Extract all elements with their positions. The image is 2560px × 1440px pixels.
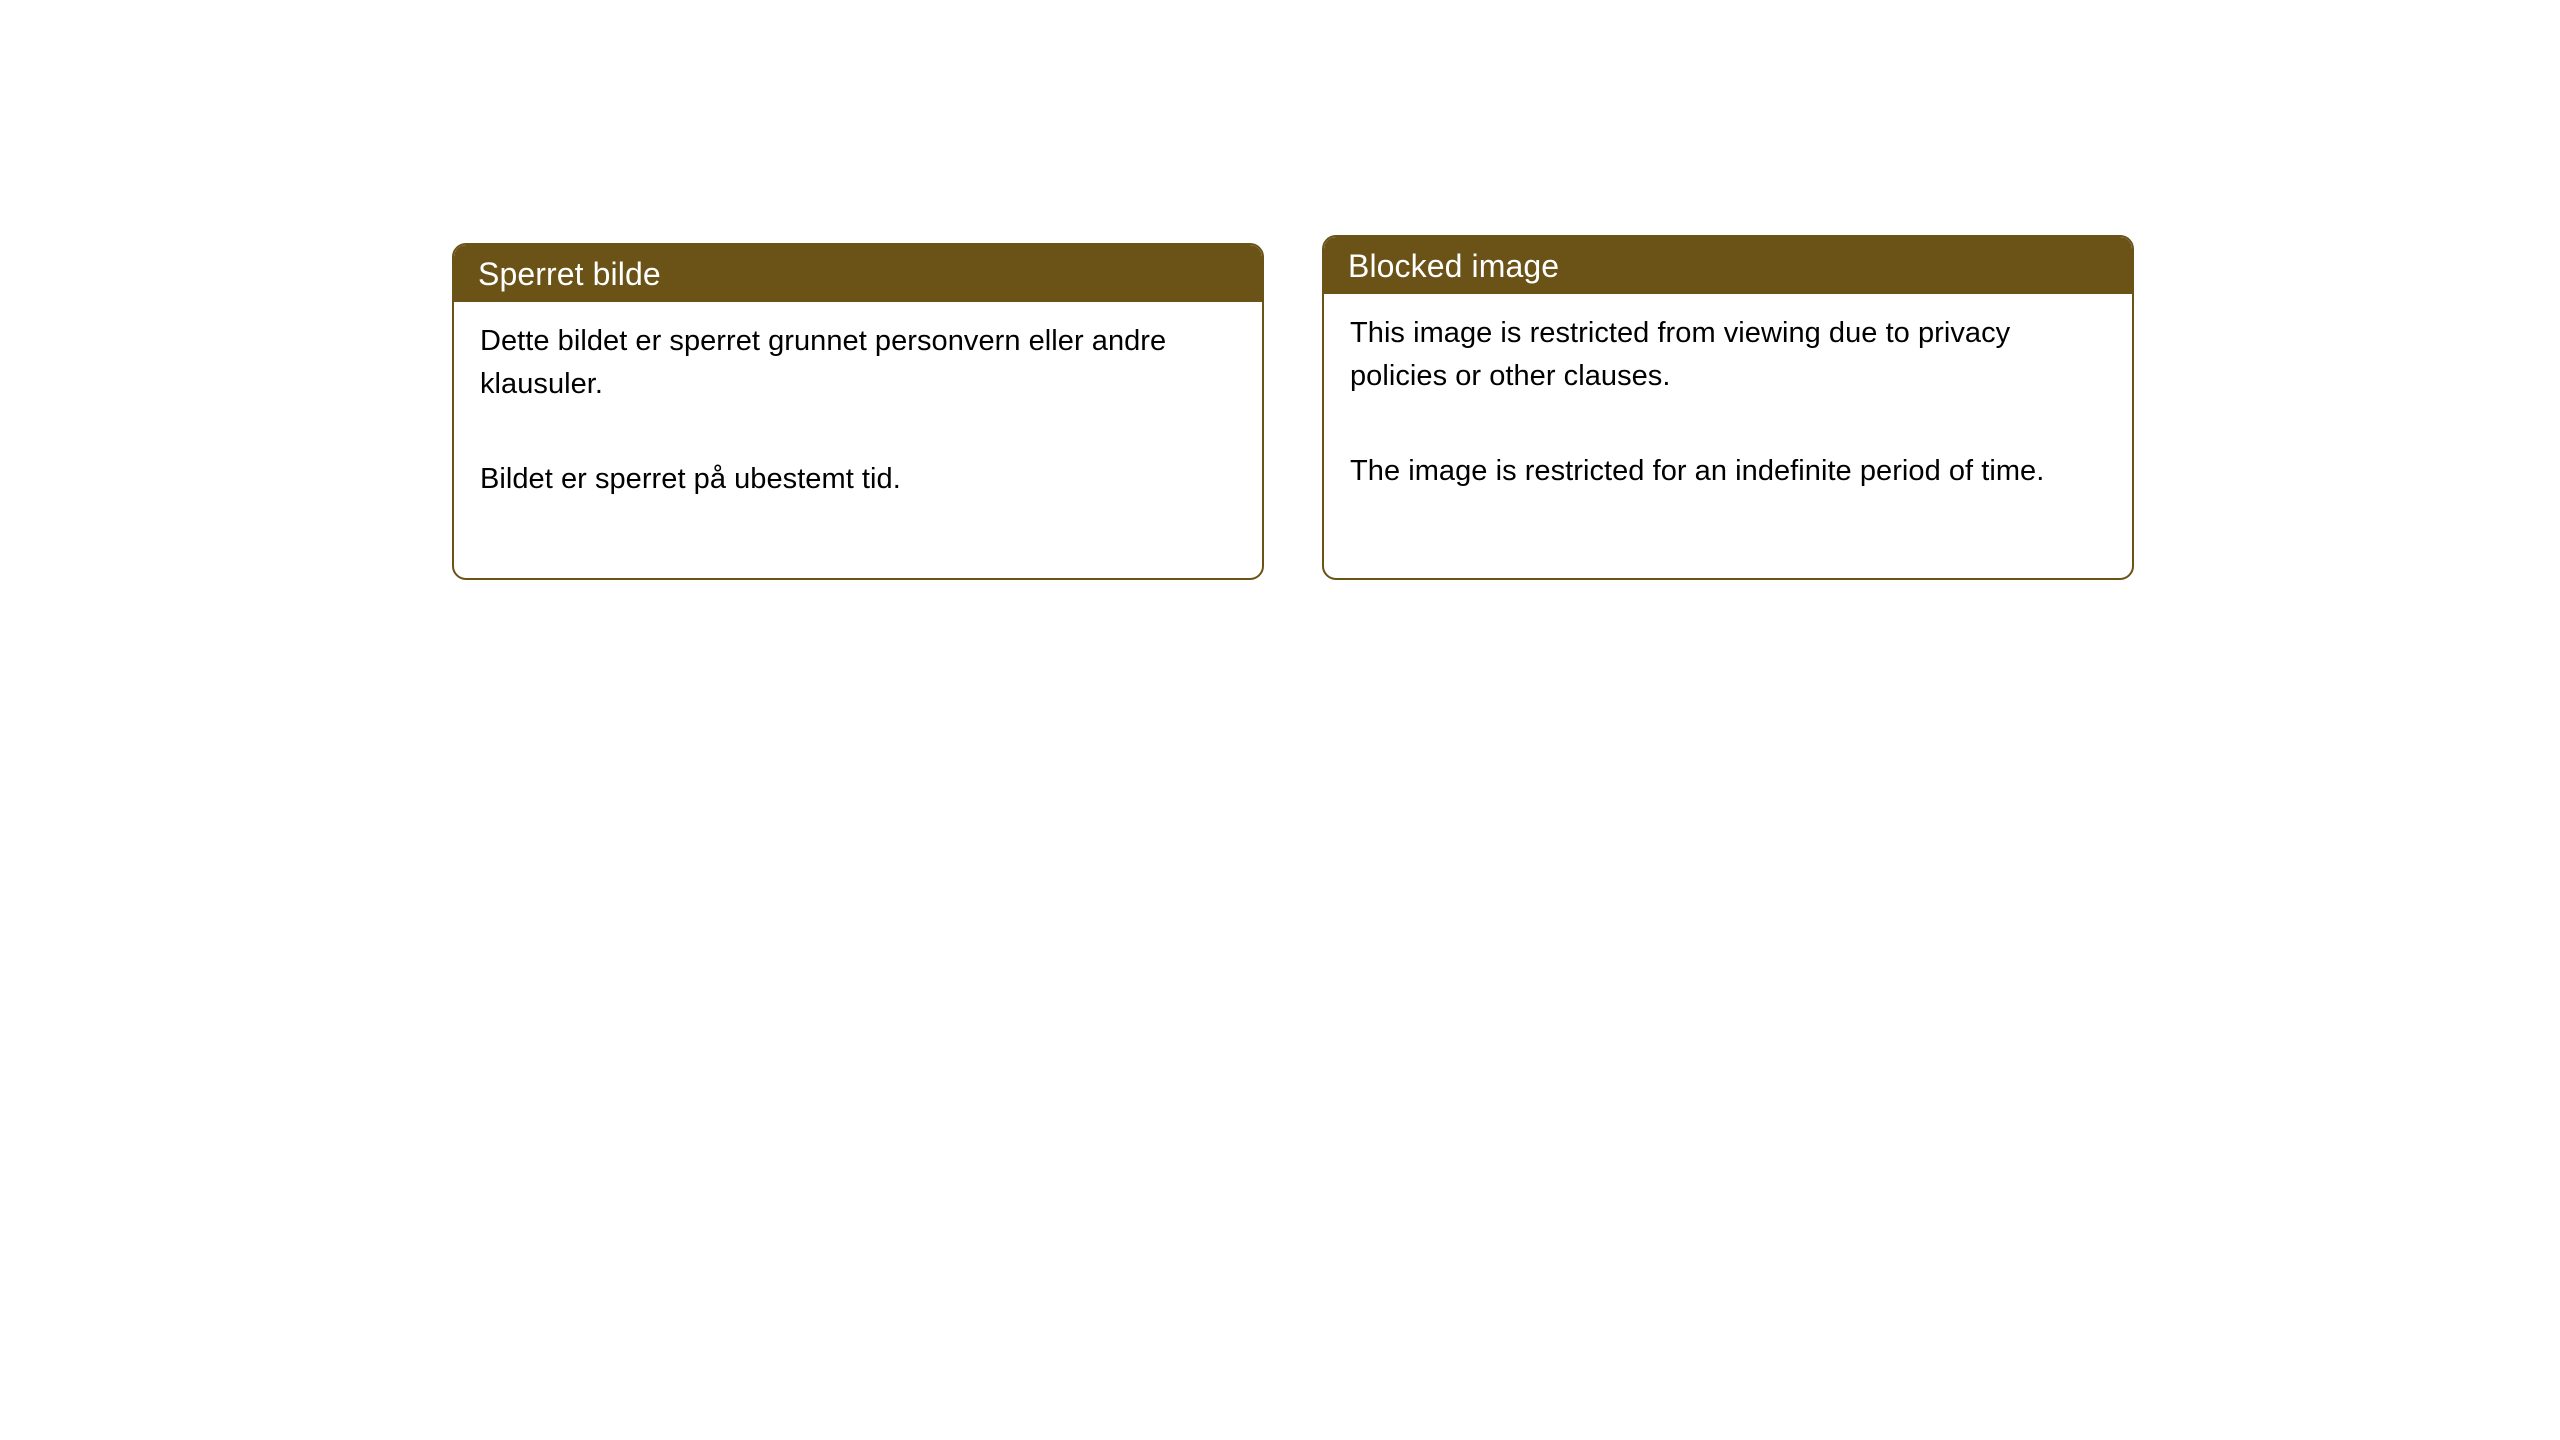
card-paragraph-duration-english: The image is restricted for an indefinit… — [1350, 450, 2106, 493]
card-paragraph-duration-norwegian: Bildet er sperret på ubestemt tid. — [480, 458, 1236, 501]
card-header-norwegian: Sperret bilde — [454, 245, 1262, 302]
card-body-norwegian: Dette bildet er sperret grunnet personve… — [454, 302, 1262, 501]
card-title-norwegian: Sperret bilde — [478, 258, 661, 290]
blocked-image-card-english: Blocked image This image is restricted f… — [1322, 235, 2134, 580]
card-paragraph-privacy-norwegian: Dette bildet er sperret grunnet personve… — [480, 320, 1236, 406]
paragraph-spacer — [480, 406, 1236, 458]
card-title-english: Blocked image — [1348, 250, 1559, 282]
page-root: Sperret bilde Dette bildet er sperret gr… — [0, 0, 2560, 1440]
paragraph-spacer — [1350, 398, 2106, 450]
card-body-english: This image is restricted from viewing du… — [1324, 294, 2132, 493]
blocked-image-card-norwegian: Sperret bilde Dette bildet er sperret gr… — [452, 243, 1264, 580]
card-paragraph-privacy-english: This image is restricted from viewing du… — [1350, 312, 2106, 398]
card-header-english: Blocked image — [1324, 237, 2132, 294]
